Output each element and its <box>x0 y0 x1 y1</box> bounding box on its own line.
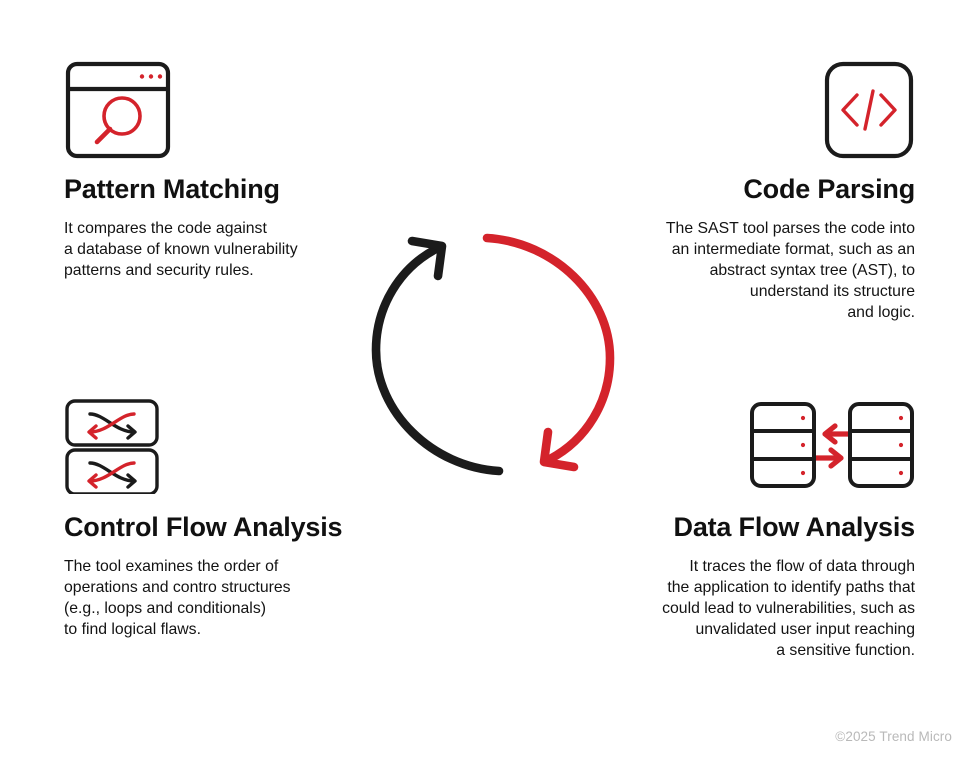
circular-cycle-arrows-icon <box>362 222 624 484</box>
section-body: It traces the flow of data through the a… <box>623 556 915 661</box>
section-title: Code Parsing <box>623 174 915 204</box>
section-body: The SAST tool parses the code into an in… <box>623 218 915 323</box>
crossing-flow-arrows-icon <box>64 398 394 502</box>
section-control-flow-analysis: Control Flow Analysis The tool examines … <box>64 398 394 640</box>
browser-window-magnifier-icon <box>64 60 364 164</box>
section-code-parsing: Code Parsing The SAST tool parses the co… <box>623 60 915 323</box>
database-exchange-icon <box>623 398 915 502</box>
section-pattern-matching: Pattern Matching It compares the code ag… <box>64 60 364 281</box>
infographic-canvas: Pattern Matching It compares the code ag… <box>0 0 980 768</box>
section-title: Pattern Matching <box>64 174 364 204</box>
footer-copyright: ©2025 Trend Micro <box>835 729 952 744</box>
section-data-flow-analysis: Data Flow Analysis It traces the flow of… <box>623 398 915 661</box>
section-body: The tool examines the order of operation… <box>64 556 394 640</box>
section-title: Data Flow Analysis <box>623 512 915 542</box>
code-brackets-icon <box>623 60 915 164</box>
section-title: Control Flow Analysis <box>64 512 394 542</box>
section-body: It compares the code against a database … <box>64 218 364 281</box>
